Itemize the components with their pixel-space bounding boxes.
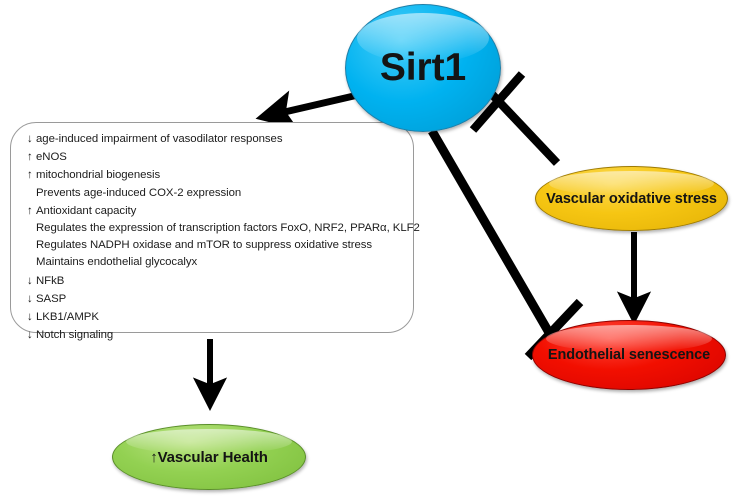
- node-vascular-oxidative-stress: Vascular oxidative stress: [535, 166, 728, 231]
- effect-line: ↑Antioxidant capacity: [27, 202, 413, 220]
- effect-text: Regulates NADPH oxidase and mTOR to supp…: [36, 239, 372, 251]
- effect-text: Maintains endothelial glycocalyx: [36, 256, 197, 268]
- effect-line: Regulates NADPH oxidase and mTOR to supp…: [27, 237, 413, 254]
- effect-line: ↓LKB1/AMPK: [27, 308, 413, 326]
- connector-sirt1-to-effects: [276, 95, 358, 114]
- effect-text: NFkB: [36, 275, 64, 287]
- sirt1-effects-panel: ↓age-induced impairment of vasodilator r…: [10, 122, 414, 333]
- effect-text: Antioxidant capacity: [36, 205, 136, 217]
- effect-text: age-induced impairment of vasodilator re…: [36, 133, 282, 145]
- node-vascular-health: ↑Vascular Health: [112, 424, 306, 490]
- node-sirt1-label: Sirt1: [380, 46, 466, 90]
- pathway-diagram: ↓age-induced impairment of vasodilator r…: [0, 0, 733, 502]
- effect-direction-marker: ↑: [27, 202, 36, 219]
- effect-direction-marker: ↑: [27, 166, 36, 183]
- effect-line: ↓Notch signaling: [27, 326, 413, 344]
- effect-line: ↓NFkB: [27, 272, 413, 290]
- node-vascular-oxidative-stress-label: Vascular oxidative stress: [546, 191, 717, 207]
- effect-text: eNOS: [36, 151, 67, 163]
- effect-line: Prevents age-induced COX-2 expression: [27, 185, 413, 202]
- effect-direction-marker: ↓: [27, 130, 36, 147]
- effect-line: ↓age-induced impairment of vasodilator r…: [27, 130, 413, 148]
- node-endothelial-senescence-label: Endothelial senescence: [548, 347, 710, 363]
- effect-direction-marker: ↓: [27, 290, 36, 307]
- node-vascular-health-label: ↑Vascular Health: [150, 449, 268, 466]
- effect-line: Maintains endothelial glycocalyx: [27, 254, 413, 271]
- connector-sirt1-inhibits-endothelial-senescence: [432, 131, 580, 357]
- effect-text: LKB1/AMPK: [36, 311, 99, 323]
- effect-direction-marker: ↓: [27, 272, 36, 289]
- node-sirt1: Sirt1: [345, 4, 501, 132]
- effect-line: Regulates the expression of transcriptio…: [27, 220, 413, 237]
- effect-direction-marker: ↑: [27, 148, 36, 165]
- effect-line: ↑eNOS: [27, 148, 413, 166]
- node-endothelial-senescence: Endothelial senescence: [532, 320, 726, 390]
- effect-direction-marker: ↓: [27, 308, 36, 325]
- effect-line: ↑mitochondrial biogenesis: [27, 166, 413, 184]
- effect-line: ↓SASP: [27, 290, 413, 308]
- effect-text: Regulates the expression of transcriptio…: [36, 222, 420, 234]
- effect-direction-marker: ↓: [27, 326, 36, 343]
- effect-text: SASP: [36, 293, 66, 305]
- effect-text: Prevents age-induced COX-2 expression: [36, 187, 241, 199]
- effect-text: mitochondrial biogenesis: [36, 169, 160, 181]
- effect-text: Notch signaling: [36, 329, 113, 341]
